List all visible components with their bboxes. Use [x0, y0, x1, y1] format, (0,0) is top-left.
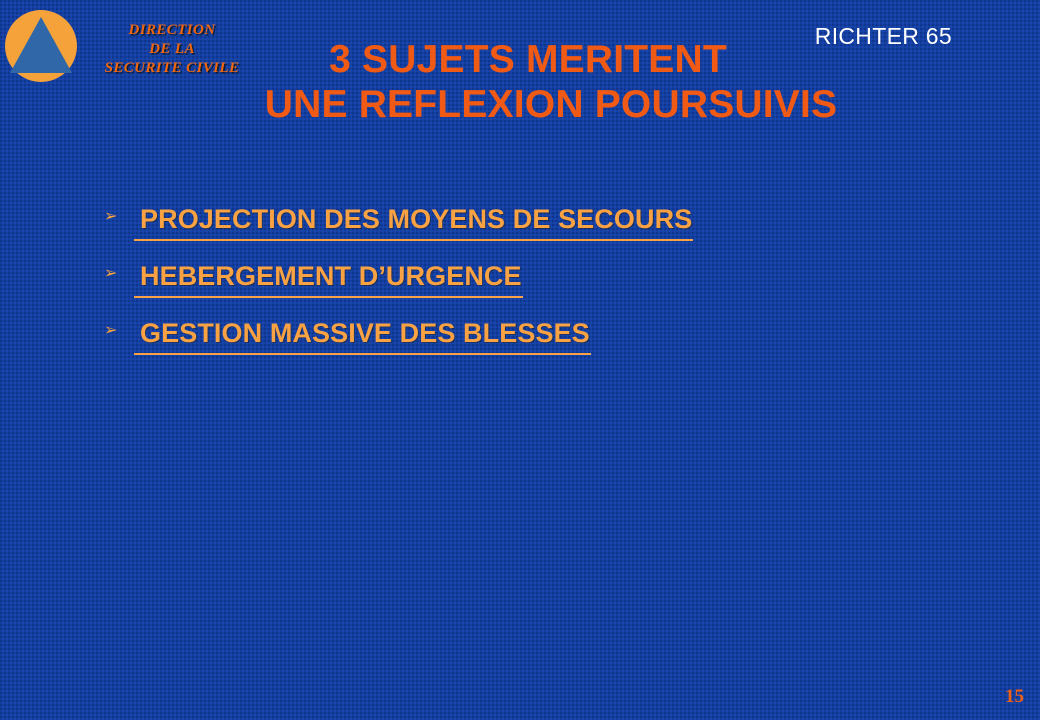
organization-line-1: DIRECTION — [84, 21, 260, 40]
list-item: ➢ HEBERGEMENT D’URGENCE — [104, 261, 964, 318]
bullet-list: ➢ PROJECTION DES MOYENS DE SECOURS ➢ HEB… — [104, 204, 964, 375]
organization-name: DIRECTION DE LA SECURITE CIVILE — [84, 21, 260, 78]
slide-canvas: DIRECTION DE LA SECURITE CIVILE RICHTER … — [0, 0, 1040, 720]
organization-line-2: DE LA — [84, 40, 260, 59]
list-item: ➢ GESTION MASSIVE DES BLESSES — [104, 318, 964, 375]
arrow-bullet-icon: ➢ — [104, 261, 134, 282]
arrow-bullet-icon: ➢ — [104, 318, 134, 339]
list-item: ➢ PROJECTION DES MOYENS DE SECOURS — [104, 204, 964, 261]
civil-protection-logo — [3, 9, 79, 83]
page-number: 15 — [1005, 686, 1024, 708]
exercise-label: RICHTER 65 — [815, 23, 952, 50]
organization-line-3: SECURITE CIVILE — [84, 59, 260, 78]
arrow-bullet-icon: ➢ — [104, 204, 134, 225]
bullet-item-label-3: GESTION MASSIVE DES BLESSES — [134, 318, 591, 355]
bullet-item-label-2: HEBERGEMENT D’URGENCE — [134, 261, 523, 298]
title-line-2: UNE REFLEXION POURSUIVIS — [0, 82, 1040, 127]
bullet-item-label-1: PROJECTION DES MOYENS DE SECOURS — [134, 204, 693, 241]
